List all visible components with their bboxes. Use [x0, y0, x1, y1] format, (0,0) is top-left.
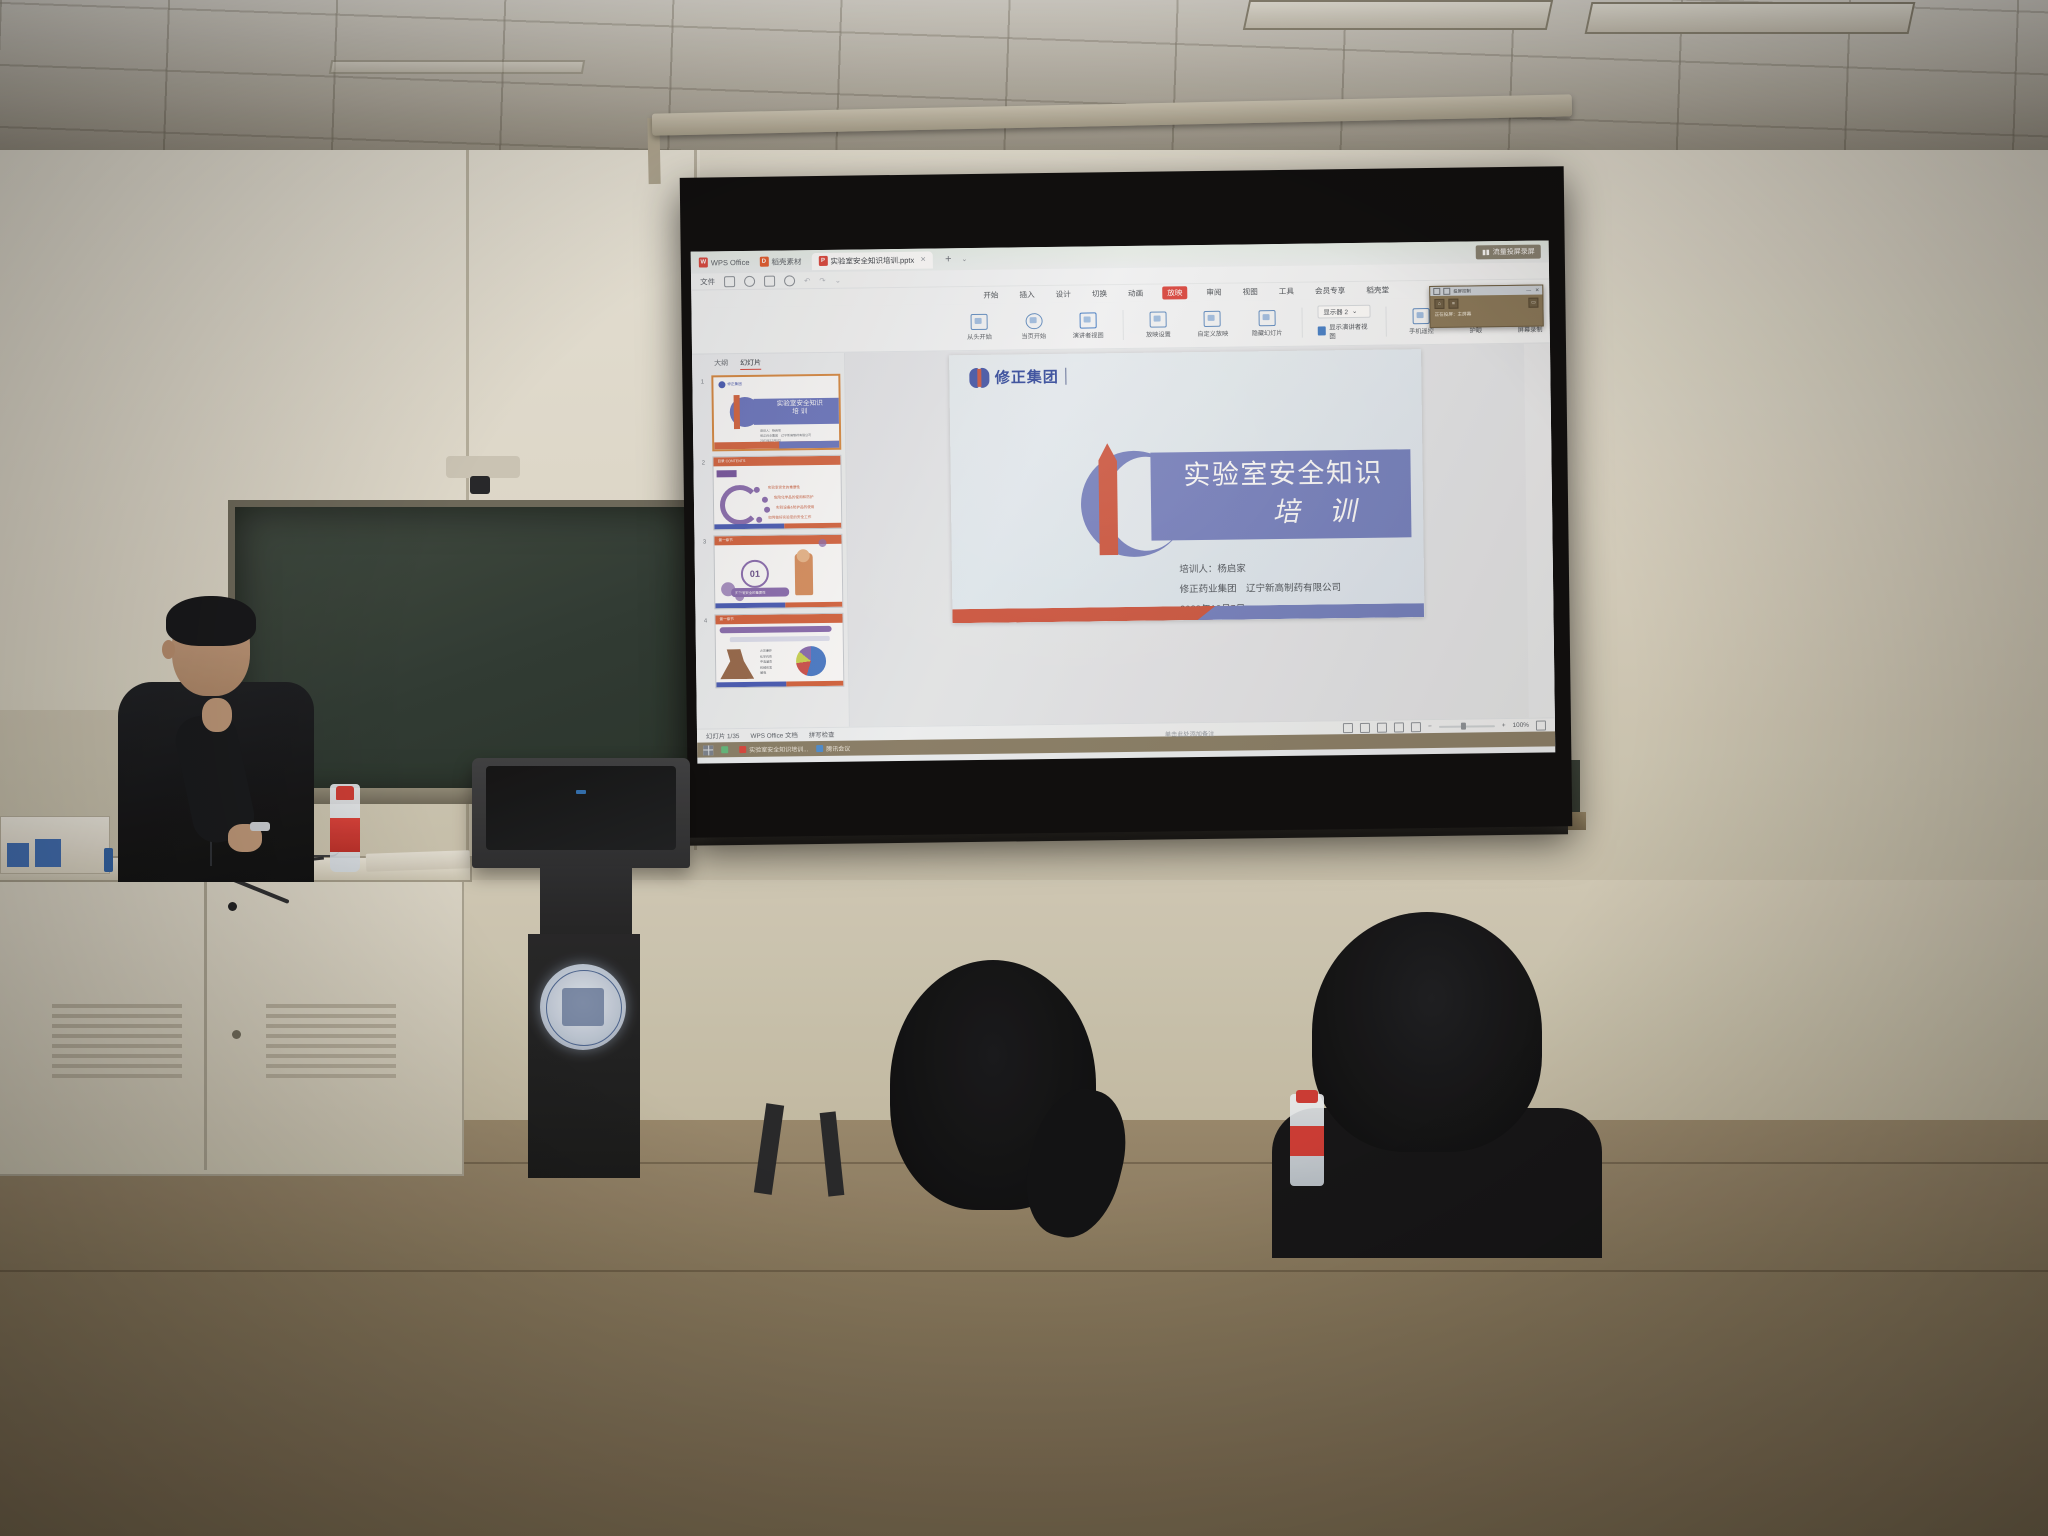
thumbnail-slide-1[interactable]: 修正集团 实验室安全知识 培 训 培训人：杨启家 [711, 374, 841, 452]
cloud-icon[interactable] [784, 275, 795, 286]
ribbon-divider [1123, 310, 1124, 340]
checkbox-icon [1318, 326, 1327, 335]
presenter-view-label: 演讲者视图 [1073, 330, 1104, 339]
thumb-header-label: 第一章节 [719, 617, 733, 622]
thumbnail-item[interactable]: 2 目录 CONTENTS 实验室安全的重要性 [697, 455, 842, 531]
lectern-monitor-screen [486, 766, 676, 850]
presenter-hair [166, 596, 256, 646]
lecture-hall-scene: W WPS Office D 稻壳素材 P 实验室安全知识培训.pptx ✕ +… [0, 0, 2048, 1536]
float-window-status: 正在投屏：主屏幕 [1431, 311, 1543, 318]
emblem-book-motif [562, 988, 604, 1026]
new-tab-button[interactable]: + [945, 253, 952, 265]
fit-to-window-icon[interactable] [1536, 720, 1546, 730]
slide-navigator-panel[interactable]: 大纲 幻灯片 1 修正集团 [692, 353, 850, 729]
audience-member-right [1272, 912, 1602, 1252]
thumb-decor-blob [818, 539, 826, 547]
zoom-slider-handle[interactable] [1461, 723, 1466, 730]
thumb-agenda-item: 实验设备&防护品的使用 [776, 505, 814, 511]
thumb-section-band [720, 626, 832, 633]
legend-item: 火灾爆炸 [760, 649, 772, 655]
logo-lobe-right [980, 367, 989, 387]
template-store-label: 稻壳素材 [771, 256, 801, 267]
float-window-controls[interactable]: ⌂ ≡ ▭ [1430, 295, 1542, 312]
taskbar-item-label: 腾讯会议 [826, 744, 850, 753]
workspace: 大纲 幻灯片 1 修正集团 [692, 343, 1555, 728]
slide-counter: 幻灯片 1/35 [706, 731, 740, 740]
water-bottle-label [330, 818, 360, 852]
thumb-note-strip [730, 636, 830, 642]
presenter-view-button[interactable]: 演讲者视图 [1068, 312, 1108, 340]
print-icon[interactable] [764, 275, 775, 286]
document-tab-label: 实验室安全知识培训.pptx [830, 254, 914, 266]
thumbnail-slide-4[interactable]: 第一章节 火灾爆炸 化学灼伤 中毒窒息 机械伤害 [714, 613, 844, 689]
ceiling-light-fixture [1585, 2, 1916, 34]
text-cursor [1065, 368, 1066, 385]
thumb-header-bar [715, 614, 842, 625]
screen-cast-float-window[interactable]: 投屏控制 — ✕ ⌂ ≡ ▭ 正在投屏：主屏幕 [1429, 285, 1544, 328]
thumb-pie-legend: 火灾爆炸 化学灼伤 中毒窒息 机械伤害 触电 [760, 649, 772, 677]
play-current-button[interactable]: 当页开始 [1014, 312, 1054, 340]
storage-cabinet [0, 872, 464, 1176]
projection-screen: W WPS Office D 稻壳素材 P 实验室安全知识培训.pptx ✕ +… [680, 166, 1573, 838]
thumb-bullet-dot [762, 497, 768, 503]
monitor-power-led [576, 790, 586, 794]
thumb-decor-blob [735, 592, 744, 601]
thumbnail-index: 1 [696, 375, 709, 451]
thumbnail-item[interactable]: 1 修正集团 实验室安全知识 [696, 374, 841, 452]
menu-icon[interactable]: ≡ [1448, 299, 1458, 309]
float-window-title: 投屏控制 [1453, 288, 1471, 294]
spellcheck-status[interactable]: 拼写检查 [809, 730, 835, 739]
thumb-decor-pillar [734, 395, 740, 429]
signal-icon: ▮▮ [1482, 248, 1490, 256]
audience-bottle-cap [1296, 1090, 1318, 1103]
search-icon[interactable] [744, 275, 755, 286]
thumb-title-line2: 培 训 [758, 408, 842, 417]
ribbon-tab-review[interactable]: 审阅 [1204, 286, 1223, 299]
thumbnail-slide-2[interactable]: 目录 CONTENTS 实验室安全的重要性 危险化学品的使用和防护 实验设备&防… [712, 455, 842, 531]
taskbar-item-meeting[interactable]: 腾讯会议 [816, 744, 850, 753]
thumbnail-index: 3 [698, 535, 711, 609]
template-icon: D [759, 257, 768, 267]
thumb-footer-bar [714, 523, 784, 529]
thumb-logo-label: 修正集团 [727, 382, 741, 387]
presenter-view-checkbox[interactable]: 显示演讲者视图 [1318, 321, 1371, 340]
blue-box [7, 843, 29, 867]
hide-slide-label: 隐藏幻灯片 [1252, 327, 1283, 336]
taskbar-item-wpp[interactable]: 实验室安全知识培训... [739, 744, 808, 754]
water-bottle-cap [336, 786, 354, 800]
wps-office-label: WPS Office [711, 257, 750, 267]
thumb-footer-bar [716, 681, 786, 687]
slide-editing-stage[interactable]: 修正集团 实验室安全知识 培 训 培训人：杨启家 [845, 344, 1529, 727]
chevron-down-icon[interactable]: ⌄ [961, 255, 967, 263]
custom-show-icon [1204, 310, 1221, 326]
show-settings-button[interactable]: 放映设置 [1138, 311, 1178, 339]
presenter [110, 596, 320, 876]
slide-company-line: 修正药业集团 辽宁新高制药有限公司 [1180, 578, 1342, 600]
ribbon-tab-slideshow[interactable]: 放映 [1162, 286, 1187, 299]
ribbon-divider [1301, 308, 1302, 338]
wall-camera [470, 476, 490, 494]
thumbnail-list[interactable]: 1 修正集团 实验室安全知识 [692, 372, 849, 729]
ribbon-tab-insert[interactable]: 插入 [1017, 288, 1036, 301]
presenter-wristwatch [250, 822, 270, 831]
wps-office-icon: W [699, 257, 708, 267]
stop-icon[interactable]: ▭ [1528, 298, 1538, 308]
thumb-logo: 修正集团 [718, 381, 741, 388]
wps-office-home-tab[interactable]: W WPS Office [699, 257, 750, 268]
thumb-title: 实验室安全知识 培 训 [758, 400, 842, 418]
play-from-start-icon [971, 313, 988, 329]
close-icon[interactable]: ✕ [920, 256, 926, 264]
customize-icon[interactable]: ⌄ [835, 275, 841, 284]
thumb-header-label: 目录 CONTENTS [717, 458, 745, 463]
slide-title-line2: 培 训 [1160, 491, 1424, 523]
windows-start-icon[interactable] [703, 745, 713, 755]
legend-item: 中毒窒息 [760, 660, 772, 666]
presenter-view-checkbox-label: 显示演讲者视图 [1329, 321, 1371, 340]
slide-logo: 修正集团 [969, 366, 1066, 388]
thumbnail-index: 4 [699, 614, 712, 688]
phone-remote-icon [1413, 308, 1430, 324]
ribbon-tab-transition[interactable]: 切换 [1090, 287, 1109, 300]
taskbar-item-chrome[interactable] [721, 746, 731, 753]
thumb-header-label: 第一章节 [718, 538, 732, 543]
recording-badge-label: 流量投屏录屏 [1493, 247, 1535, 258]
slide-decor-pillar [1098, 443, 1118, 555]
play-from-start-label: 从头开始 [967, 331, 992, 340]
thumb-pie-chart [796, 646, 826, 676]
thumb-agenda-item: 实验室安全的重要性 [768, 485, 800, 490]
tab-outline[interactable]: 大纲 [714, 358, 728, 370]
lectern-column-upper [540, 866, 632, 936]
logo-center-bar [977, 368, 981, 386]
taskbar-item-label: 实验室安全知识培训... [749, 744, 808, 754]
slide-trainer-line: 培训人：杨启家 [1179, 558, 1341, 580]
slide-title[interactable]: 实验室安全知识 培 训 [1162, 453, 1405, 522]
thumb-footer-bar [715, 602, 785, 608]
ribbon-tab-tools[interactable]: 工具 [1277, 285, 1296, 298]
presenter-ear [162, 640, 175, 659]
settings-icon [1443, 288, 1450, 295]
hide-slide-icon [1258, 310, 1275, 326]
play-from-start-button[interactable]: 从头开始 [960, 313, 1000, 341]
blue-box [35, 839, 61, 867]
thumb-bullet-dot [764, 507, 770, 513]
ppt-file-icon [739, 746, 746, 753]
thumbnail-index: 2 [697, 456, 710, 530]
cabinet-handle[interactable] [232, 1030, 241, 1039]
thumb-bullet-dot [754, 487, 760, 493]
show-settings-icon [1150, 311, 1167, 327]
ribbon-tab-docer[interactable]: 稻壳堂 [1364, 284, 1391, 297]
thumb-section-number: 01 [741, 560, 769, 588]
presenter-view-icon [1079, 312, 1096, 328]
audience-member-left [880, 960, 1120, 1260]
document-tab-active[interactable]: P 实验室安全知识培训.pptx ✕ [811, 251, 933, 270]
custom-show-label: 自定义放映 [1197, 328, 1228, 337]
play-current-label: 当页开始 [1021, 331, 1046, 340]
ribbon-tab-member[interactable]: 会员专享 [1313, 284, 1348, 297]
office-doc-label[interactable]: WPS Office 文档 [750, 730, 798, 740]
explorer-icon [816, 745, 823, 752]
thumb-tag [717, 470, 737, 477]
recording-badge[interactable]: ▮▮ 流量投屏录屏 [1476, 245, 1541, 260]
right-panel-strip [1524, 343, 1555, 717]
file-menu-button[interactable]: 文件 [700, 276, 715, 287]
home-icon[interactable]: ⌂ [1434, 299, 1444, 309]
cast-icon [1433, 288, 1440, 295]
wall-camera-mount [446, 456, 520, 478]
audience-hair [1312, 912, 1542, 1152]
ceiling-light-fixture [329, 60, 585, 74]
keyboard [366, 850, 471, 872]
floor-seam [0, 1270, 2048, 1272]
ribbon-divider [1386, 307, 1387, 337]
ceiling-light-fixture [1243, 0, 1553, 30]
thumbnail-item[interactable]: 4 第一章节 火灾爆炸 化学灼伤 [699, 613, 844, 689]
xiuzheng-logo-icon [718, 381, 725, 388]
tab-slides[interactable]: 幻灯片 [740, 358, 761, 370]
redo-icon[interactable]: ↷ [819, 275, 825, 284]
cabinet-vent [266, 1004, 396, 1008]
desk-boxes [0, 816, 110, 874]
slide-footer-bar-left [952, 606, 1235, 624]
thumb-footer-bar-alt [784, 523, 841, 529]
cabinet-door-seam [204, 880, 207, 1170]
thumb-agenda-item: 危险化学品的使用和防护 [774, 495, 814, 501]
navigator-tabs[interactable]: 大纲 幻灯片 [692, 353, 844, 374]
chrome-icon [721, 746, 728, 753]
monitor-select[interactable]: 显示器 2 ⌄ [1317, 304, 1370, 318]
thumb-footer-bar-alt [785, 602, 842, 608]
thumb-microscope-illustration [720, 649, 754, 679]
ribbon-tab-design[interactable]: 设计 [1054, 288, 1073, 301]
hide-slide-button[interactable]: 隐藏幻灯片 [1247, 309, 1287, 337]
ppt-file-icon: P [818, 256, 827, 266]
legend-item: 触电 [760, 671, 772, 677]
play-current-icon [1025, 313, 1042, 329]
slide-title-line1: 实验室安全知识 [1162, 453, 1404, 494]
close-icon[interactable]: ✕ [1535, 287, 1539, 293]
chevron-down-icon: ⌄ [1352, 307, 1357, 315]
ribbon-tab-view[interactable]: 视图 [1240, 285, 1259, 298]
template-store-tab[interactable]: D 稻壳素材 [759, 256, 801, 268]
thumb-footer-bar-alt [779, 441, 839, 449]
custom-show-button[interactable]: 自定义放映 [1193, 310, 1233, 338]
microphone-head [228, 902, 237, 911]
audience-bottle-label [1290, 1126, 1324, 1156]
monitor-select-value: 显示器 2 [1323, 307, 1348, 316]
cabinet-vent [52, 1004, 182, 1008]
slide-logo-label: 修正集团 [995, 366, 1059, 388]
ribbon-tab-home[interactable]: 开始 [981, 289, 1000, 302]
slide-footer-bar-right [1197, 603, 1424, 620]
thumb-scientist-head [797, 549, 810, 562]
new-icon[interactable] [724, 276, 735, 287]
show-settings-label: 放映设置 [1146, 329, 1171, 338]
thumb-agenda-item: 如何做好实验室的安全工作 [768, 515, 811, 521]
minimize-icon[interactable]: — [1526, 287, 1531, 293]
projected-wps-window[interactable]: W WPS Office D 稻壳素材 P 实验室安全知识培训.pptx ✕ +… [691, 240, 1556, 763]
ribbon-tab-animation[interactable]: 动画 [1126, 287, 1145, 300]
thumb-decor-blob [721, 582, 735, 596]
thumb-footer-bar-alt [786, 681, 843, 687]
thumbnail-item[interactable]: 3 第一章节 01 实验室安全的重要性 [698, 534, 843, 610]
thumbnail-slide-3[interactable]: 第一章节 01 实验室安全的重要性 [713, 534, 843, 610]
undo-icon[interactable]: ↶ [804, 276, 810, 285]
thumb-bullet-dot [756, 517, 762, 523]
current-slide[interactable]: 修正集团 实验室安全知识 培 训 培训人：杨启家 [949, 349, 1424, 623]
presenter-hand-raised [202, 698, 232, 732]
xiuzheng-logo-icon [969, 367, 989, 387]
